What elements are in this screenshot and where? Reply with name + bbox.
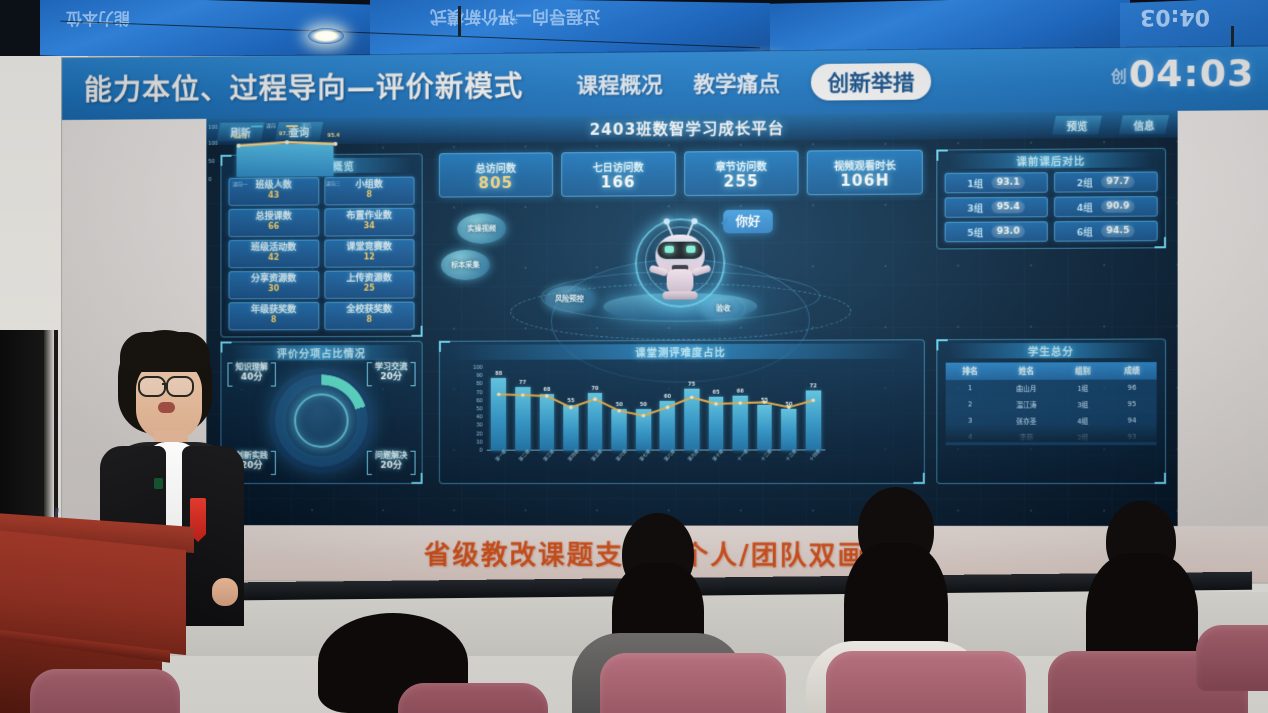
- bar-chart-xtick: 第二章: [518, 449, 532, 463]
- slide-header: 能力本位、过程导向—评价新模式 课程概况 教学痛点 创新举措 创 04:03: [62, 46, 1268, 120]
- stat-cell[interactable]: 课堂竞赛数 12: [324, 239, 415, 268]
- presenter-glasses-bridge: [162, 383, 168, 385]
- seat: [30, 669, 180, 713]
- bar-chart-xtick: 第四章: [566, 449, 580, 463]
- robot-greeting-bubble: 你好: [723, 210, 772, 234]
- table-row[interactable]: 2温江涛3组95: [946, 396, 1157, 413]
- stat-label: 布置作业数: [346, 212, 392, 221]
- stat-value: 25: [363, 284, 374, 295]
- clock-icon: 创: [1111, 65, 1127, 87]
- presenter-mouth: [158, 402, 175, 413]
- bar-chart-ytick: 0: [479, 448, 482, 453]
- stats-grid: 班级人数 43 小组数 8 总授课数 66 布置作业数 34: [229, 177, 415, 331]
- group-name: 3组: [967, 201, 983, 214]
- slide-tabs: 课程概况 教学痛点 创新举措: [577, 63, 932, 103]
- ceiling-light: [308, 28, 344, 44]
- group-score: 93.1: [991, 176, 1025, 188]
- table-cell: 3组: [1058, 396, 1107, 412]
- bar-chart-xtick: 第五章: [590, 449, 604, 463]
- seat: [1196, 625, 1268, 691]
- presenter-hair-front: [120, 332, 210, 372]
- kpi-value: 255: [723, 174, 758, 189]
- table-col-rank[interactable]: 排名: [946, 363, 995, 380]
- group-cell[interactable]: 5组 93.0: [945, 221, 1048, 242]
- bar-chart-xtick: 十四章: [809, 448, 823, 462]
- group-cell[interactable]: 3组 95.4: [945, 197, 1048, 218]
- student-scores-panel: 学生总分 排名 姓名 组别 成绩 1曲山月1组962温江涛3组953张亦圣4组9…: [936, 338, 1166, 484]
- hero-node-label: 标本采集: [451, 261, 479, 270]
- donut-label-text: 学习交流: [375, 362, 407, 371]
- bar-chart-ytick: 40: [476, 415, 482, 420]
- group-score: 94.5: [1101, 225, 1135, 237]
- stat-value: 12: [363, 253, 374, 264]
- assessment-difficulty-panel: 课堂测评难度占比 010203040506070809010088第一章77第二…: [439, 339, 925, 484]
- donut-label-value: 20分: [375, 373, 407, 385]
- ceiling-reflection-timer: 04:03: [1140, 4, 1210, 29]
- presenter-glasses-lens: [138, 376, 166, 397]
- mini-xtick: 课前一: [233, 181, 248, 188]
- kpi-video-watch-time[interactable]: 视频观看时长 106H: [807, 150, 923, 196]
- group-name: 2组: [1077, 175, 1093, 188]
- bar-chart-ytick: 30: [476, 423, 482, 428]
- groups-panel-title: 课前课后对比: [948, 152, 1155, 169]
- donut-label-exchange: 学习交流 20分: [375, 362, 407, 384]
- kpi-value: 106H: [840, 173, 890, 189]
- table-row[interactable]: 1曲山月1组96: [946, 379, 1157, 396]
- slide-tab-teaching-painpoints[interactable]: 教学痛点: [693, 67, 780, 98]
- table-cell: 2: [946, 396, 995, 412]
- bar-chart-xtick: 第三章: [542, 449, 556, 463]
- bar-chart-plot: 010203040506070809010088第一章77第二章68第三章55第…: [487, 367, 826, 451]
- stat-value: 8: [366, 190, 372, 200]
- ceiling-reflection-text: 能力本位: [66, 8, 130, 32]
- table-cell: 96: [1107, 379, 1156, 395]
- bar-chart-ytick: 50: [476, 407, 482, 412]
- dashboard-title: 2403班数智学习成长平台: [589, 117, 784, 140]
- kpi-chapter-visits[interactable]: 章节访问数 255: [684, 151, 799, 196]
- table-cell: 95: [1107, 396, 1156, 412]
- seat: [398, 683, 548, 713]
- stat-value: 42: [268, 253, 279, 263]
- group-score: 93.0: [991, 226, 1025, 238]
- robot-mascot-icon[interactable]: [640, 212, 720, 306]
- presenter-glasses-lens: [166, 376, 194, 397]
- bar-chart-xtick: 第九章: [687, 448, 701, 462]
- bar-chart-xtick: 第六章: [615, 449, 629, 463]
- table-panel-title: 学生总分: [948, 343, 1155, 359]
- group-cell[interactable]: 2组 97.7: [1054, 171, 1158, 192]
- presenter-microphone-icon: [154, 478, 163, 489]
- stat-label: 班级活动数: [251, 244, 296, 253]
- hero-node-label: 风险预控: [555, 294, 584, 303]
- bar-chart-xtick: 十三章: [784, 448, 798, 462]
- slide-tab-innovation-measures[interactable]: 创新举措: [811, 63, 931, 101]
- stat-cell[interactable]: 布置作业数 34: [324, 208, 415, 237]
- stat-cell[interactable]: 分享资源数 30: [229, 271, 319, 300]
- mini-xtick: 课前三: [325, 180, 340, 187]
- stat-label: 全校获奖数: [346, 306, 392, 315]
- slide-tab-course-overview[interactable]: 课程概况: [577, 68, 663, 99]
- stat-cell[interactable]: 上传资源数 25: [324, 270, 415, 299]
- robot-antenna-tip: [691, 218, 697, 224]
- bar-chart-xtick: 第一章: [494, 449, 508, 463]
- bar-chart-line-series: [487, 367, 826, 451]
- stat-cell[interactable]: 年级获奖数 8: [229, 302, 319, 330]
- seat: [826, 651, 1026, 713]
- donut-inner-ring: [294, 393, 349, 447]
- nav-info-button[interactable]: 信息: [1119, 115, 1169, 135]
- kpi-value: 805: [478, 175, 513, 190]
- bar-chart-ytick: 90: [476, 374, 482, 379]
- kpi-label: 总访问数: [475, 159, 516, 174]
- stat-value: 66: [268, 222, 279, 233]
- table-col-name[interactable]: 姓名: [995, 362, 1059, 380]
- stat-label: 总授课数: [255, 213, 291, 222]
- kpi-label: 七日访问数: [593, 158, 644, 174]
- group-score: 95.4: [991, 201, 1025, 213]
- kpi-row: 总访问数 805 七日访问数 166 章节访问数 255 视频观看时长 106H: [439, 150, 923, 198]
- group-name: 1组: [967, 176, 983, 189]
- stat-label: 上传资源数: [346, 275, 392, 284]
- table-cell: 1: [946, 380, 995, 396]
- kpi-label: 章节访问数: [715, 157, 767, 173]
- dashboard: 刷新 查询 2403班数智学习成长平台 预览 信息 统计信息概览 班级人数 43: [206, 111, 1177, 526]
- group-name: 5组: [967, 225, 983, 238]
- stat-cell[interactable]: 全校获奖数 8: [324, 302, 415, 331]
- stat-label: 年级获奖数: [251, 306, 296, 315]
- robot-antenna-tip: [663, 218, 669, 224]
- stat-cell[interactable]: 班级活动数 42: [229, 240, 319, 269]
- groups-comparison-panel: 课前课后对比 1组 93.1 2组 97.7 3组 95.4: [936, 148, 1166, 250]
- bar-chart-ytick: 20: [476, 432, 482, 437]
- mini-xtick: 课前二: [277, 180, 292, 187]
- donut-label-problem-solving: 问题解决 20分: [375, 451, 407, 473]
- stat-label: 课堂竞赛数: [346, 244, 392, 253]
- bar-chart-ytick: 100: [473, 365, 483, 370]
- kpi-value: 166: [601, 175, 636, 190]
- stat-label: 分享资源数: [251, 275, 296, 284]
- hero-node-risk-control[interactable]: 风险预控: [545, 286, 594, 313]
- donut-label-text: 问题解决: [375, 451, 407, 460]
- stat-value: 34: [363, 221, 374, 232]
- robot-eye: [686, 246, 695, 253]
- table-cell: 曲山月: [995, 380, 1059, 396]
- table-cell: 温江涛: [995, 396, 1059, 412]
- kpi-label: 视频观看时长: [834, 156, 896, 172]
- bar-chart-ytick: 80: [476, 382, 482, 387]
- dashboard-nav-right: 预览 信息: [1042, 111, 1170, 139]
- mini-ytick: 50: [208, 159, 214, 165]
- ceiling-reflection-text: 平台: [500, 14, 518, 25]
- group-score: 90.9: [1101, 200, 1135, 212]
- robot-legs: [662, 291, 697, 299]
- hero-node-specimen-collection[interactable]: 标本采集: [441, 250, 490, 281]
- donut-label-value: 20分: [375, 461, 407, 473]
- stat-cell[interactable]: 总授课数 66: [229, 208, 319, 237]
- table-header-row: 排名 姓名 组别 成绩: [946, 362, 1157, 380]
- bar-chart-ytick: 60: [476, 399, 482, 404]
- group-cell[interactable]: 6组 94.5: [1054, 221, 1158, 242]
- kpi-seven-day-visits[interactable]: 七日访问数 166: [561, 151, 675, 196]
- table-cell: 1组: [1058, 380, 1107, 396]
- kpi-total-visits[interactable]: 总访问数 805: [439, 152, 553, 197]
- bar-chart-xtick: 第七章: [639, 449, 653, 463]
- table-col-group[interactable]: 组别: [1058, 362, 1107, 380]
- robot-body: [666, 269, 693, 293]
- slide-right-margin: [1178, 110, 1268, 526]
- stat-value: 43: [268, 191, 279, 202]
- group-name: 4组: [1077, 200, 1093, 213]
- timer-value: 04:03: [1129, 56, 1255, 94]
- presenter-hand: [212, 578, 238, 606]
- ceiling-rod: [458, 6, 461, 36]
- group-score: 97.7: [1101, 176, 1135, 189]
- mini-ytick: 100: [208, 125, 218, 131]
- presentation-room-photo: 能力本位 过程导向—评价新模式 平台 04:03 能力本位、过程导向—评价新模式…: [0, 0, 1268, 713]
- bar-chart-xtick: 十二章: [760, 448, 774, 462]
- bar-chart-ytick: 70: [476, 390, 482, 395]
- hero-visualization: 实操视频 标本采集 风险预控 验收: [439, 207, 923, 335]
- nav-preview-button[interactable]: 预览: [1052, 115, 1102, 135]
- stat-value: 8: [366, 315, 372, 325]
- seat: [600, 653, 786, 713]
- hero-node-practical-video[interactable]: 实操视频: [457, 213, 506, 244]
- group-cell[interactable]: 1组 93.1: [945, 172, 1048, 193]
- mini-chart-plot: 100 100 50 0 93.1 97.7 95.4 课前一: [231, 125, 413, 185]
- bars-panel-title: 课堂测评难度占比: [450, 343, 913, 360]
- hero-node-label: 实操视频: [467, 224, 496, 233]
- mini-line-series: [231, 125, 413, 185]
- groups-grid: 1组 93.1 2组 97.7 3组 95.4 4组 90.9: [945, 171, 1158, 242]
- stat-value: 8: [271, 315, 277, 325]
- slide-title: 能力本位、过程导向—评价新模式: [84, 65, 523, 109]
- mini-ytick: 100: [208, 141, 218, 147]
- bar-chart-ytick: 10: [476, 440, 482, 445]
- slide-timer: 创 04:03: [1111, 56, 1255, 94]
- group-cell[interactable]: 4组 90.9: [1054, 196, 1158, 217]
- robot-eye: [664, 246, 673, 253]
- bar-chart-xtick: 十一章: [736, 448, 750, 462]
- group-name: 6组: [1077, 225, 1093, 238]
- table-fade-overlay: [946, 424, 1157, 443]
- mini-ytick: 0: [208, 177, 211, 183]
- table-col-score[interactable]: 成绩: [1107, 362, 1156, 380]
- bar-chart-xtick: 第八章: [663, 449, 677, 463]
- bar-chart-xtick: 第十章: [711, 448, 725, 462]
- stat-value: 30: [268, 284, 279, 294]
